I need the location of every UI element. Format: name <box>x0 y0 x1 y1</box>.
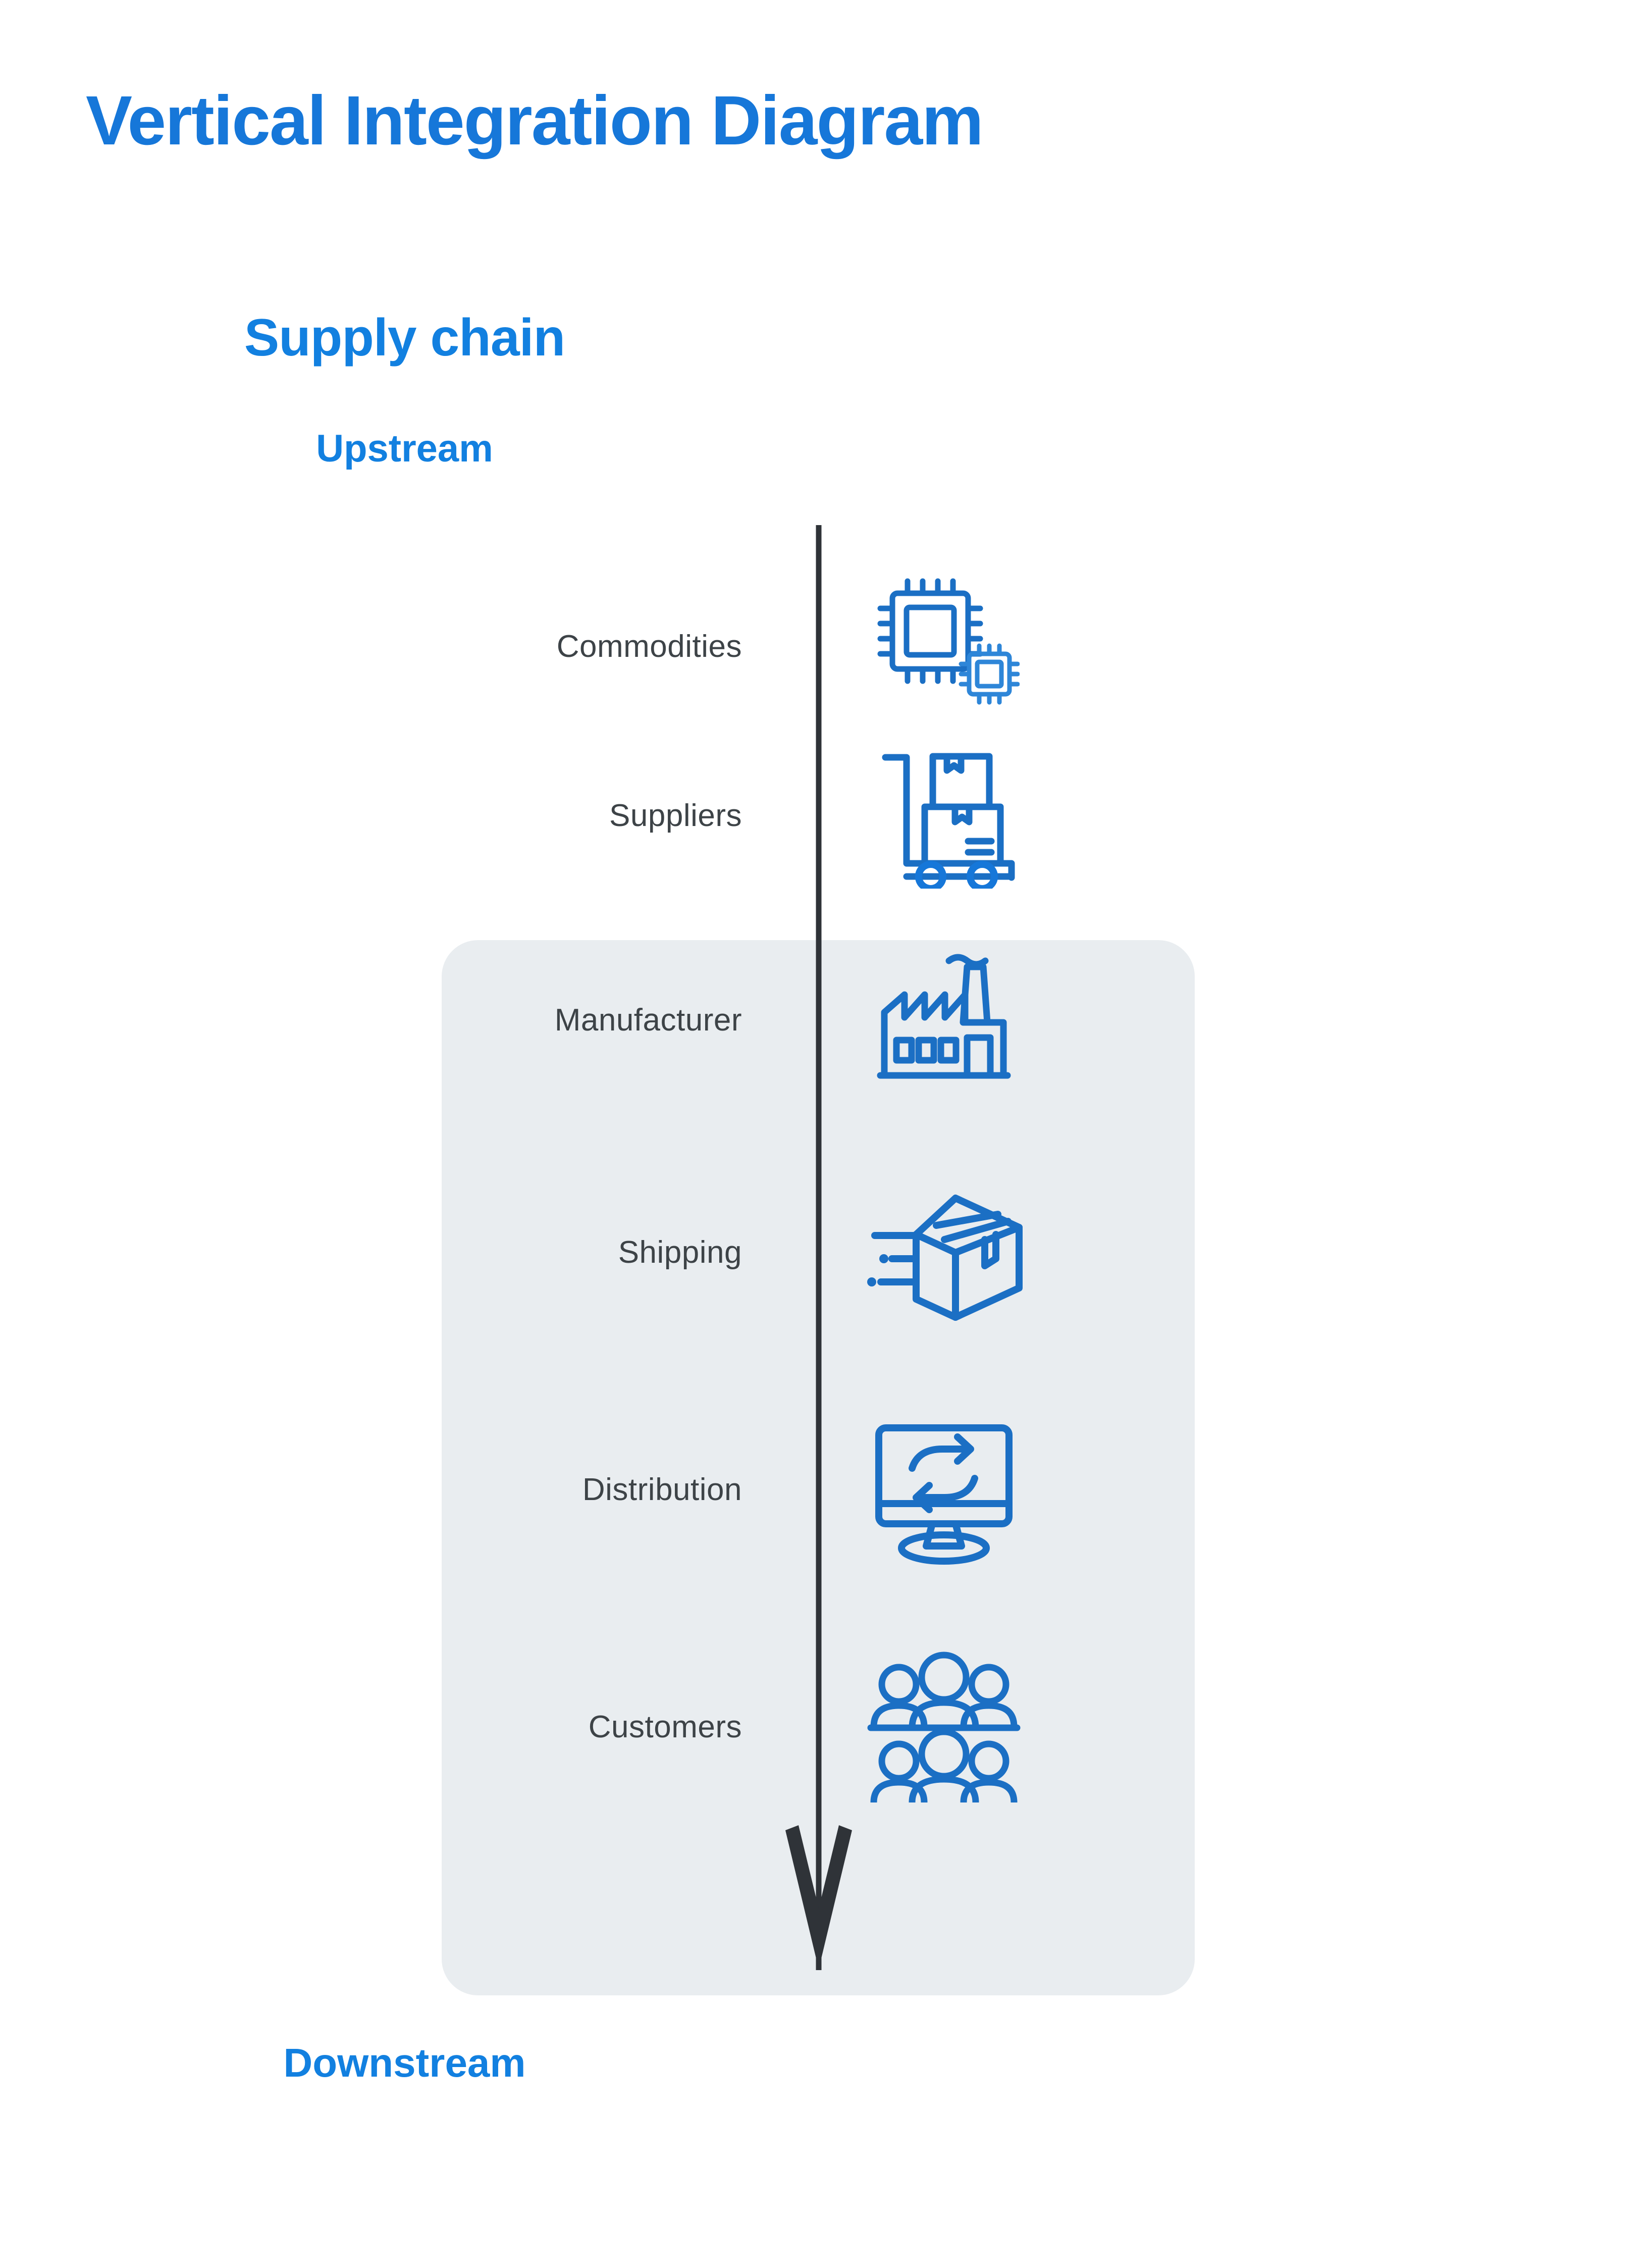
stage-row-commodities[interactable]: Commodities <box>0 571 1262 722</box>
moving-box-icon <box>861 1179 1027 1325</box>
forklift-icon <box>861 742 1027 889</box>
page-title: Vertical Integration Diagram <box>86 81 983 161</box>
people-group-icon <box>861 1651 1027 1802</box>
microchip-icon <box>861 573 1027 719</box>
stage-label-customers: Customers <box>0 1709 780 1745</box>
stage-row-suppliers[interactable]: Suppliers <box>0 740 1262 891</box>
stage-label-suppliers: Suppliers <box>0 798 780 834</box>
stage-row-manufacturer[interactable]: Manufacturer <box>0 944 1262 1096</box>
stage-row-shipping[interactable]: Shipping <box>0 1176 1262 1328</box>
stage-label-shipping: Shipping <box>0 1234 780 1270</box>
downstream-label: Downstream <box>0 2040 1647 2086</box>
stage-row-distribution[interactable]: Distribution <box>0 1414 1262 1565</box>
supply-chain-heading: Supply chain <box>0 308 1647 368</box>
stage-row-customers[interactable]: Customers <box>0 1651 1262 1802</box>
upstream-label: Upstream <box>0 427 1647 471</box>
stage-label-distribution: Distribution <box>0 1472 780 1508</box>
stage-label-manufacturer: Manufacturer <box>0 1002 780 1038</box>
factory-icon <box>861 947 1027 1093</box>
stage-label-commodities: Commodities <box>0 629 780 664</box>
monitor-sync-icon <box>861 1414 1027 1565</box>
